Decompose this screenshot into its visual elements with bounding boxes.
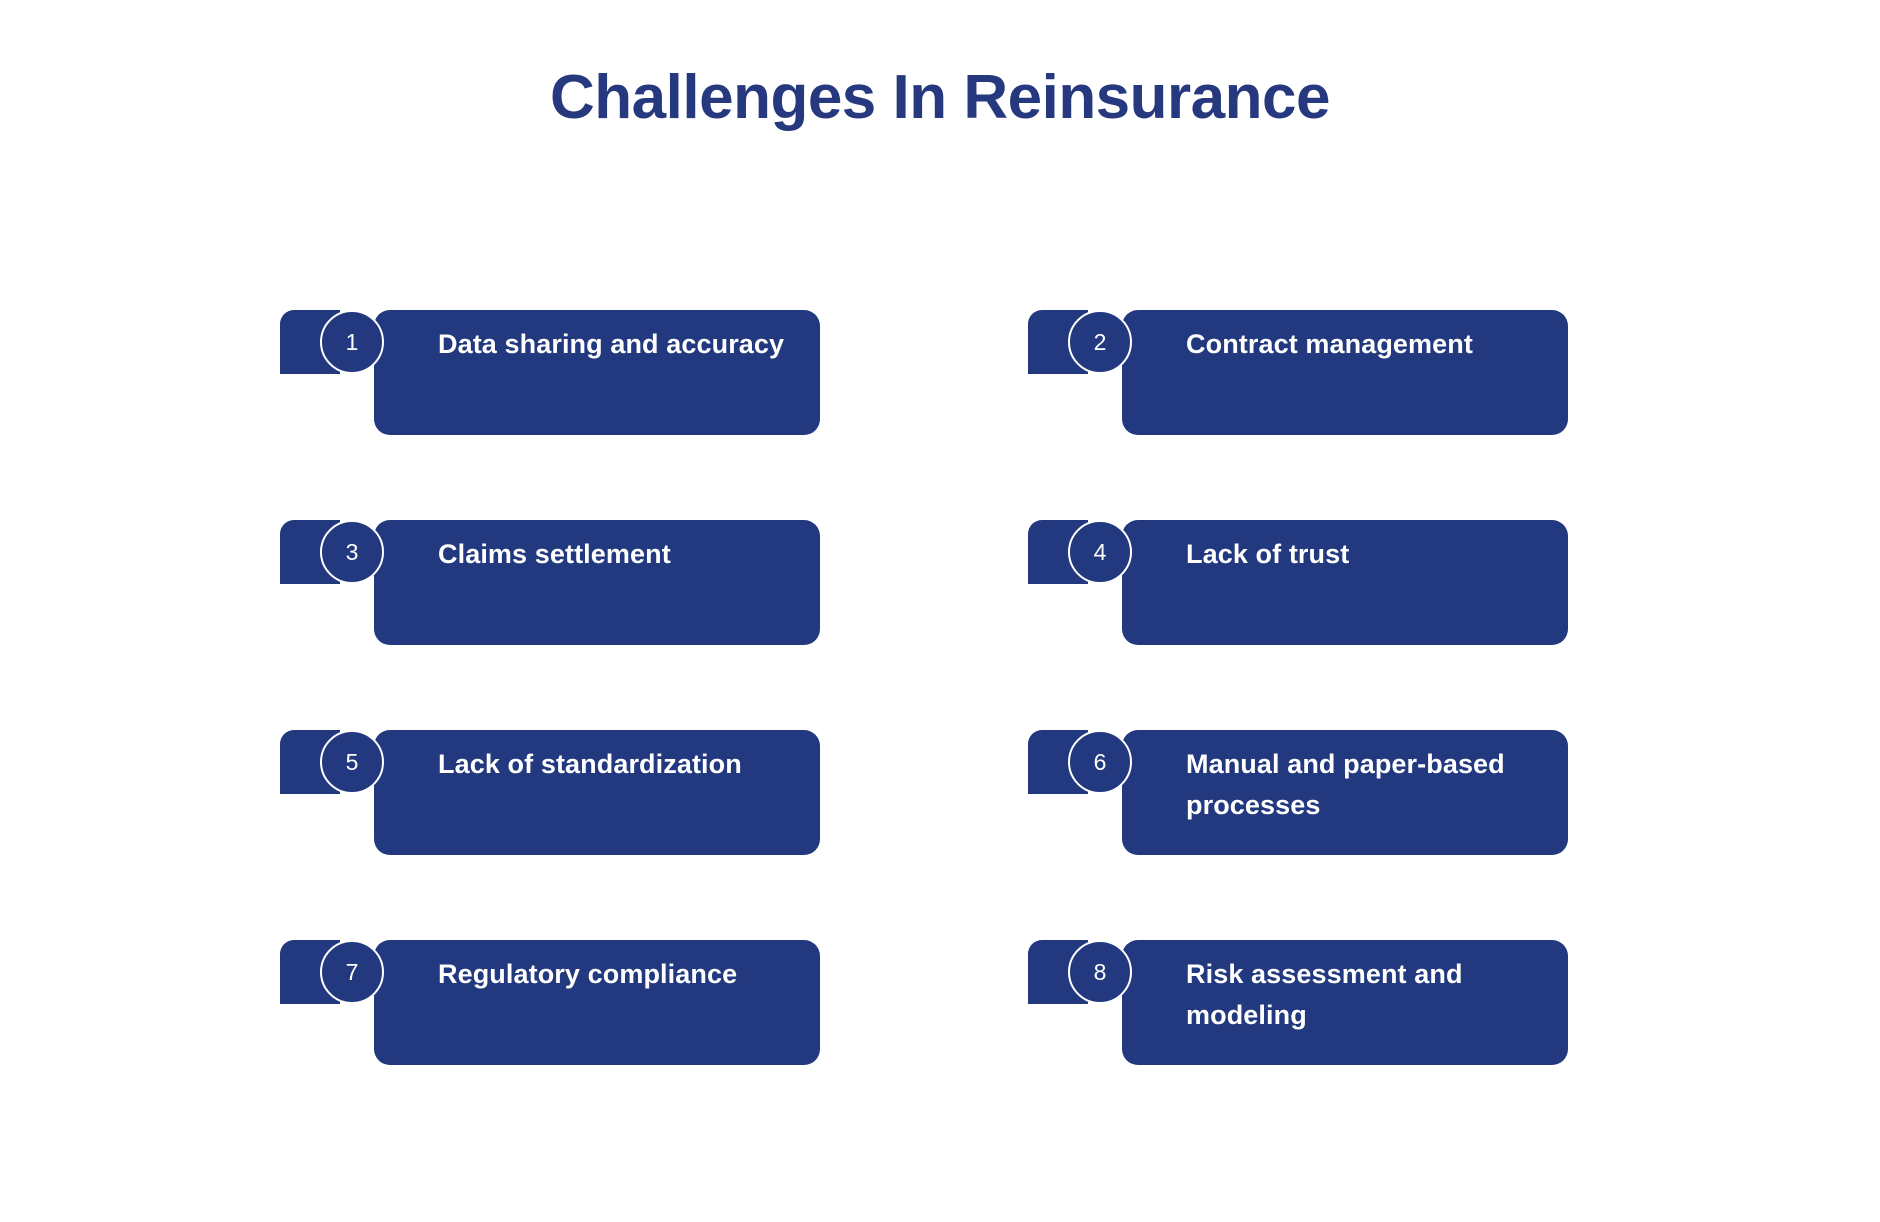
challenge-card-3[interactable]: 3 Claims settlement [320,520,820,645]
card-label: Regulatory compliance [438,954,818,995]
card-number-badge: 5 [320,730,384,794]
card-number-label: 8 [1094,961,1107,984]
card-number-label: 3 [346,541,359,564]
card-number-badge: 1 [320,310,384,374]
page-title: Challenges In Reinsurance [0,62,1880,133]
card-number-badge: 6 [1068,730,1132,794]
challenge-card-4[interactable]: 4 Lack of trust [1068,520,1568,645]
card-number-badge: 8 [1068,940,1132,1004]
card-number-label: 5 [346,751,359,774]
challenge-card-5[interactable]: 5 Lack of standardization [320,730,820,855]
card-number-badge: 7 [320,940,384,1004]
card-number-label: 4 [1094,541,1107,564]
card-label: Lack of trust [1186,534,1566,575]
challenge-cards-grid: 1 Data sharing and accuracy 2 Contract m… [320,310,1568,1070]
card-label: Manual and paper-based processes [1186,744,1566,826]
card-number-badge: 2 [1068,310,1132,374]
card-label: Risk assessment and modeling [1186,954,1566,1036]
challenge-card-8[interactable]: 8 Risk assessment and modeling [1068,940,1568,1065]
card-number-label: 2 [1094,331,1107,354]
challenge-card-7[interactable]: 7 Regulatory compliance [320,940,820,1065]
challenge-card-1[interactable]: 1 Data sharing and accuracy [320,310,820,435]
infographic-canvas: Challenges In Reinsurance 1 Data sharing… [0,0,1880,1222]
challenge-card-6[interactable]: 6 Manual and paper-based processes [1068,730,1568,855]
card-number-label: 1 [346,331,359,354]
card-label: Contract management [1186,324,1566,365]
challenge-card-2[interactable]: 2 Contract management [1068,310,1568,435]
card-label: Claims settlement [438,534,818,575]
card-number-label: 6 [1094,751,1107,774]
card-number-badge: 4 [1068,520,1132,584]
card-label: Data sharing and accuracy [438,324,818,365]
card-label: Lack of standardization [438,744,818,785]
card-number-badge: 3 [320,520,384,584]
card-number-label: 7 [346,961,359,984]
